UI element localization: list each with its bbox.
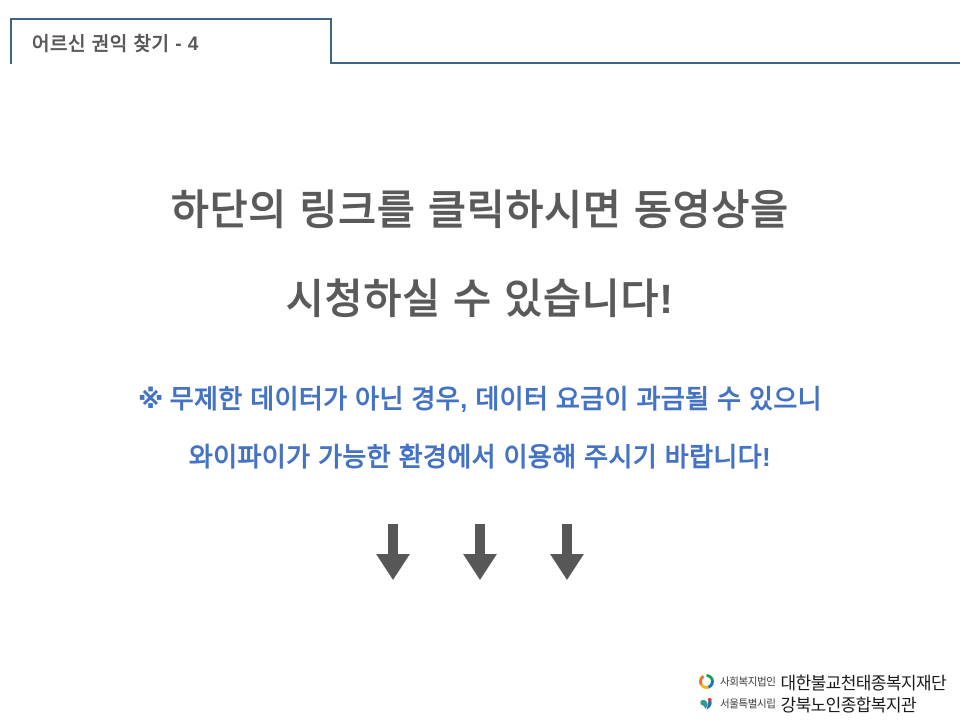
notice-line-2: 와이파이가 가능한 환경에서 이용해 주시기 바랍니다!	[0, 444, 960, 470]
multicolor-ring-icon	[698, 673, 715, 690]
reference-mark-icon: ※	[138, 384, 164, 414]
tab-title-label: 어르신 권익 찾기 - 4	[12, 29, 199, 56]
notice-line-1: ※무제한 데이터가 아닌 경우, 데이터 요금이 과금될 수 있으니	[0, 386, 960, 412]
center-prefix-label: 서울특별시립	[720, 696, 776, 711]
notice-block: ※무제한 데이터가 아닌 경우, 데이터 요금이 과금될 수 있으니 와이파이가…	[0, 386, 960, 470]
down-arrow-icon-2	[463, 524, 497, 580]
arrow-shaft	[562, 524, 572, 556]
headline-line-1: 하단의 링크를 클릭하시면 동영상을	[0, 190, 960, 231]
headline-block: 하단의 링크를 클릭하시면 동영상을 시청하실 수 있습니다!	[0, 190, 960, 320]
slide-canvas: 어르신 권익 찾기 - 4 하단의 링크를 클릭하시면 동영상을 시청하실 수 …	[0, 0, 960, 720]
footer-logo: 사회복지법인 대한불교천태종복지재단 서울특별시립 강북노인종합복지관	[698, 670, 946, 714]
logo-line-foundation: 사회복지법인 대한불교천태종복지재단	[698, 670, 946, 692]
tab-section-header[interactable]: 어르신 권익 찾기 - 4	[10, 18, 332, 64]
arrow-head	[463, 554, 497, 580]
tab-underline-rule	[332, 62, 960, 64]
logo-line-center: 서울특별시립 강북노인종합복지관	[698, 692, 916, 714]
down-arrow-icon-3	[550, 524, 584, 580]
arrow-shaft	[475, 524, 485, 556]
center-name-label: 강북노인종합복지관	[781, 691, 916, 716]
person-bird-icon	[698, 695, 715, 712]
arrow-shaft	[388, 524, 398, 556]
arrow-head	[550, 554, 584, 580]
notice-line-1-text: 무제한 데이터가 아닌 경우, 데이터 요금이 과금될 수 있으니	[170, 384, 822, 414]
arrow-head	[376, 554, 410, 580]
headline-line-2: 시청하실 수 있습니다!	[0, 279, 960, 320]
arrow-group	[0, 524, 960, 580]
down-arrow-icon-1	[376, 524, 410, 580]
foundation-prefix-label: 사회복지법인	[720, 674, 776, 689]
tab-bar: 어르신 권익 찾기 - 4	[0, 18, 960, 64]
